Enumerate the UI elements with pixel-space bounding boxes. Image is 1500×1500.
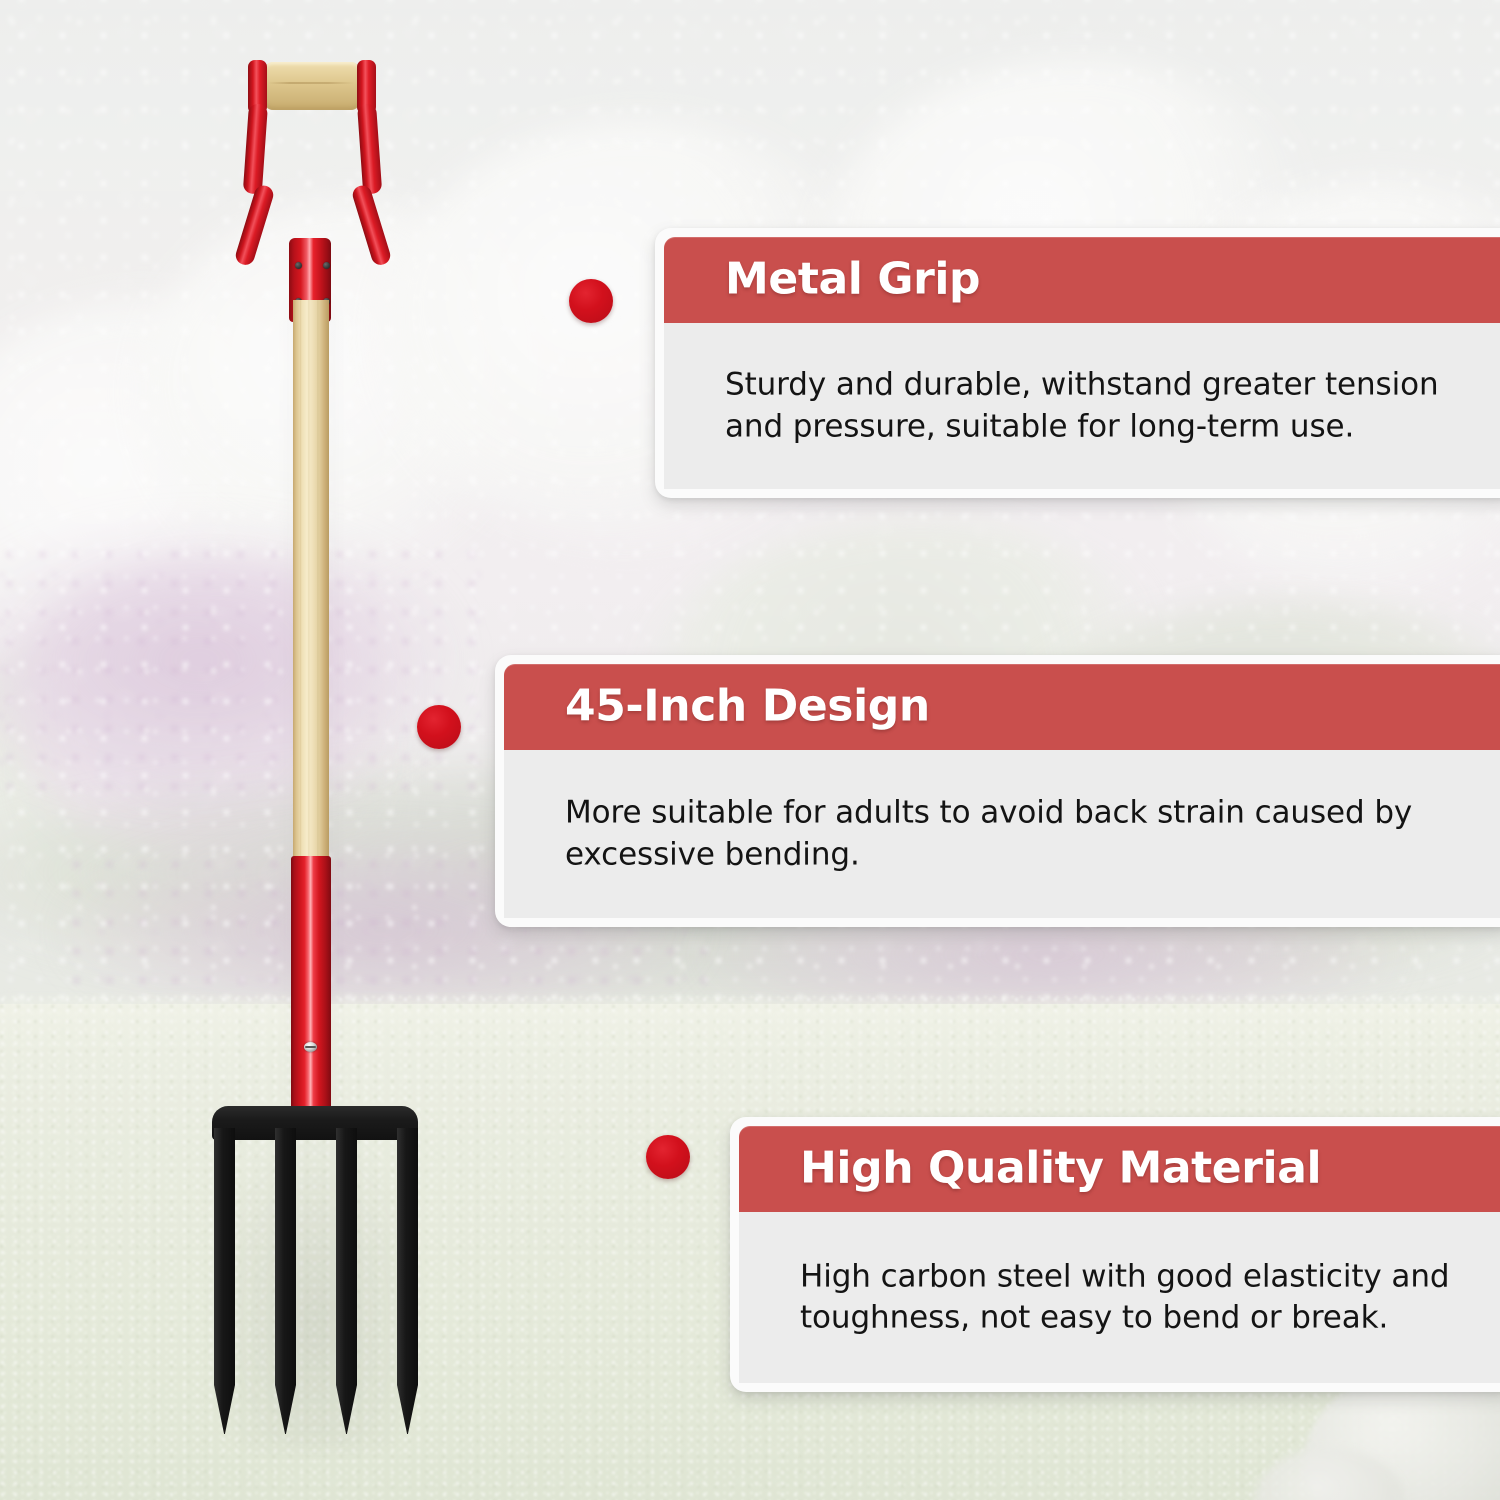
feature-description: Sturdy and durable, withstand greater te… xyxy=(725,364,1475,447)
feature-description: More suitable for adults to avoid back s… xyxy=(565,792,1475,875)
feature-card-body: More suitable for adults to avoid back s… xyxy=(504,750,1500,918)
feature-description: High carbon steel with good elasticity a… xyxy=(800,1256,1475,1339)
feature-title: Metal Grip xyxy=(725,253,980,304)
feature-card-header: Metal Grip xyxy=(664,237,1500,323)
feature-card-45-inch-design: 45-Inch Design More suitable for adults … xyxy=(495,655,1500,927)
feature-card-header: 45-Inch Design xyxy=(504,664,1500,750)
product-infographic: Metal Grip Sturdy and durable, withstand… xyxy=(0,0,1500,1500)
feature-card-body: Sturdy and durable, withstand greater te… xyxy=(664,323,1500,489)
feature-card-body: High carbon steel with good elasticity a… xyxy=(739,1212,1500,1383)
feature-card-high-quality-material: High Quality Material High carbon steel … xyxy=(730,1117,1500,1392)
feature-title: 45-Inch Design xyxy=(565,680,930,731)
bullet-dot-metal-grip xyxy=(569,279,613,323)
feature-card-header: High Quality Material xyxy=(739,1126,1500,1212)
feature-card-metal-grip: Metal Grip Sturdy and durable, withstand… xyxy=(655,228,1500,498)
feature-title: High Quality Material xyxy=(800,1142,1321,1193)
bullet-dot-45-inch-design xyxy=(417,705,461,749)
bullet-dot-high-quality-material xyxy=(646,1135,690,1179)
